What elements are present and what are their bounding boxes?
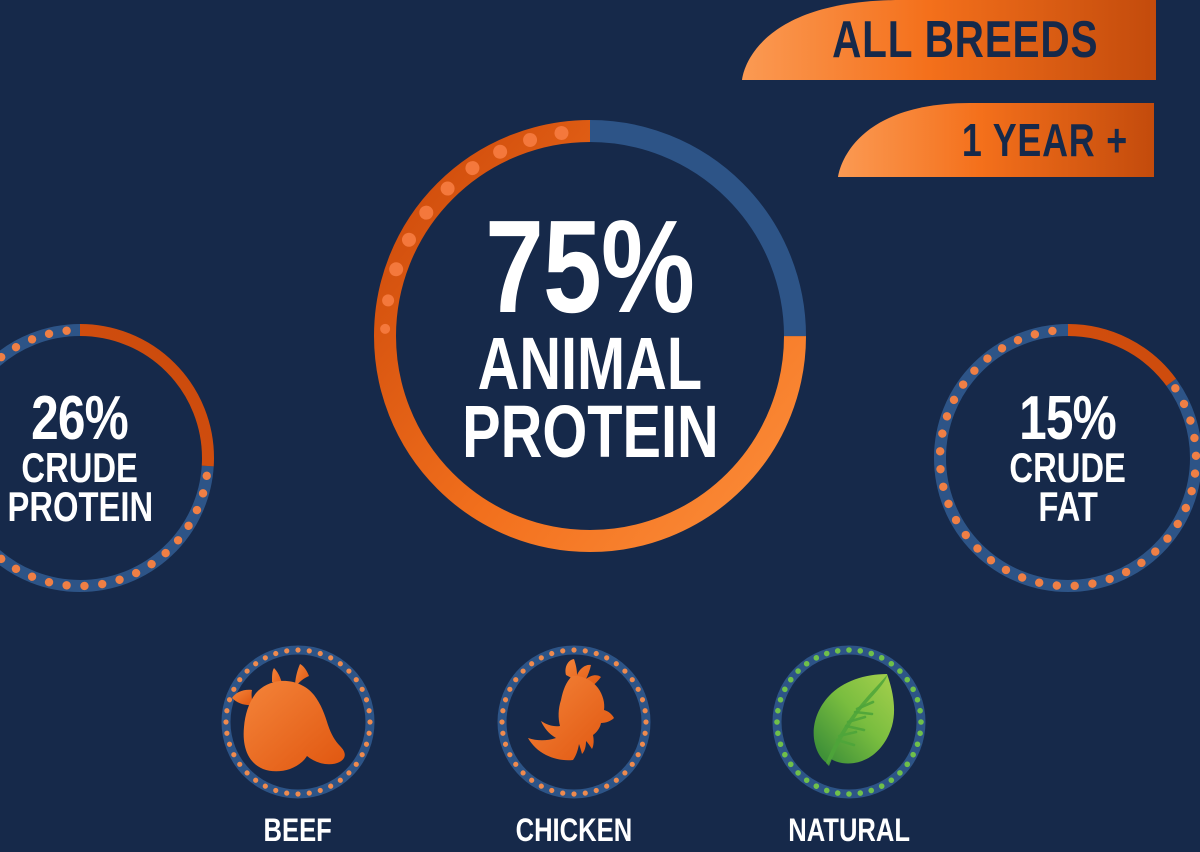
ring-left-dots	[0, 326, 211, 590]
badge-chicken-label: CHICKEN	[454, 812, 694, 849]
ring-crude-fat	[928, 318, 1200, 598]
rooster-head-icon	[528, 659, 614, 760]
cow-head-icon	[232, 664, 345, 771]
badge-chicken[interactable]	[494, 642, 654, 802]
leaf-icon	[814, 674, 894, 766]
banner-age: 1 YEAR +	[838, 103, 1154, 177]
badge-natural-label: NATURAL	[729, 812, 969, 849]
badge-beef[interactable]	[218, 642, 378, 802]
ring-animal-protein	[352, 98, 828, 574]
badge-natural[interactable]	[769, 642, 929, 802]
banner-all-breeds: ALL BREEDS	[742, 0, 1156, 80]
badge-beef-label: BEEF	[178, 812, 418, 849]
banner-all-breeds-label: ALL BREEDS	[832, 10, 1098, 70]
ring-crude-protein	[0, 318, 220, 598]
infographic-canvas: ALL BREEDS 1 YEAR +	[0, 0, 1200, 852]
banner-age-label: 1 YEAR +	[962, 113, 1128, 167]
